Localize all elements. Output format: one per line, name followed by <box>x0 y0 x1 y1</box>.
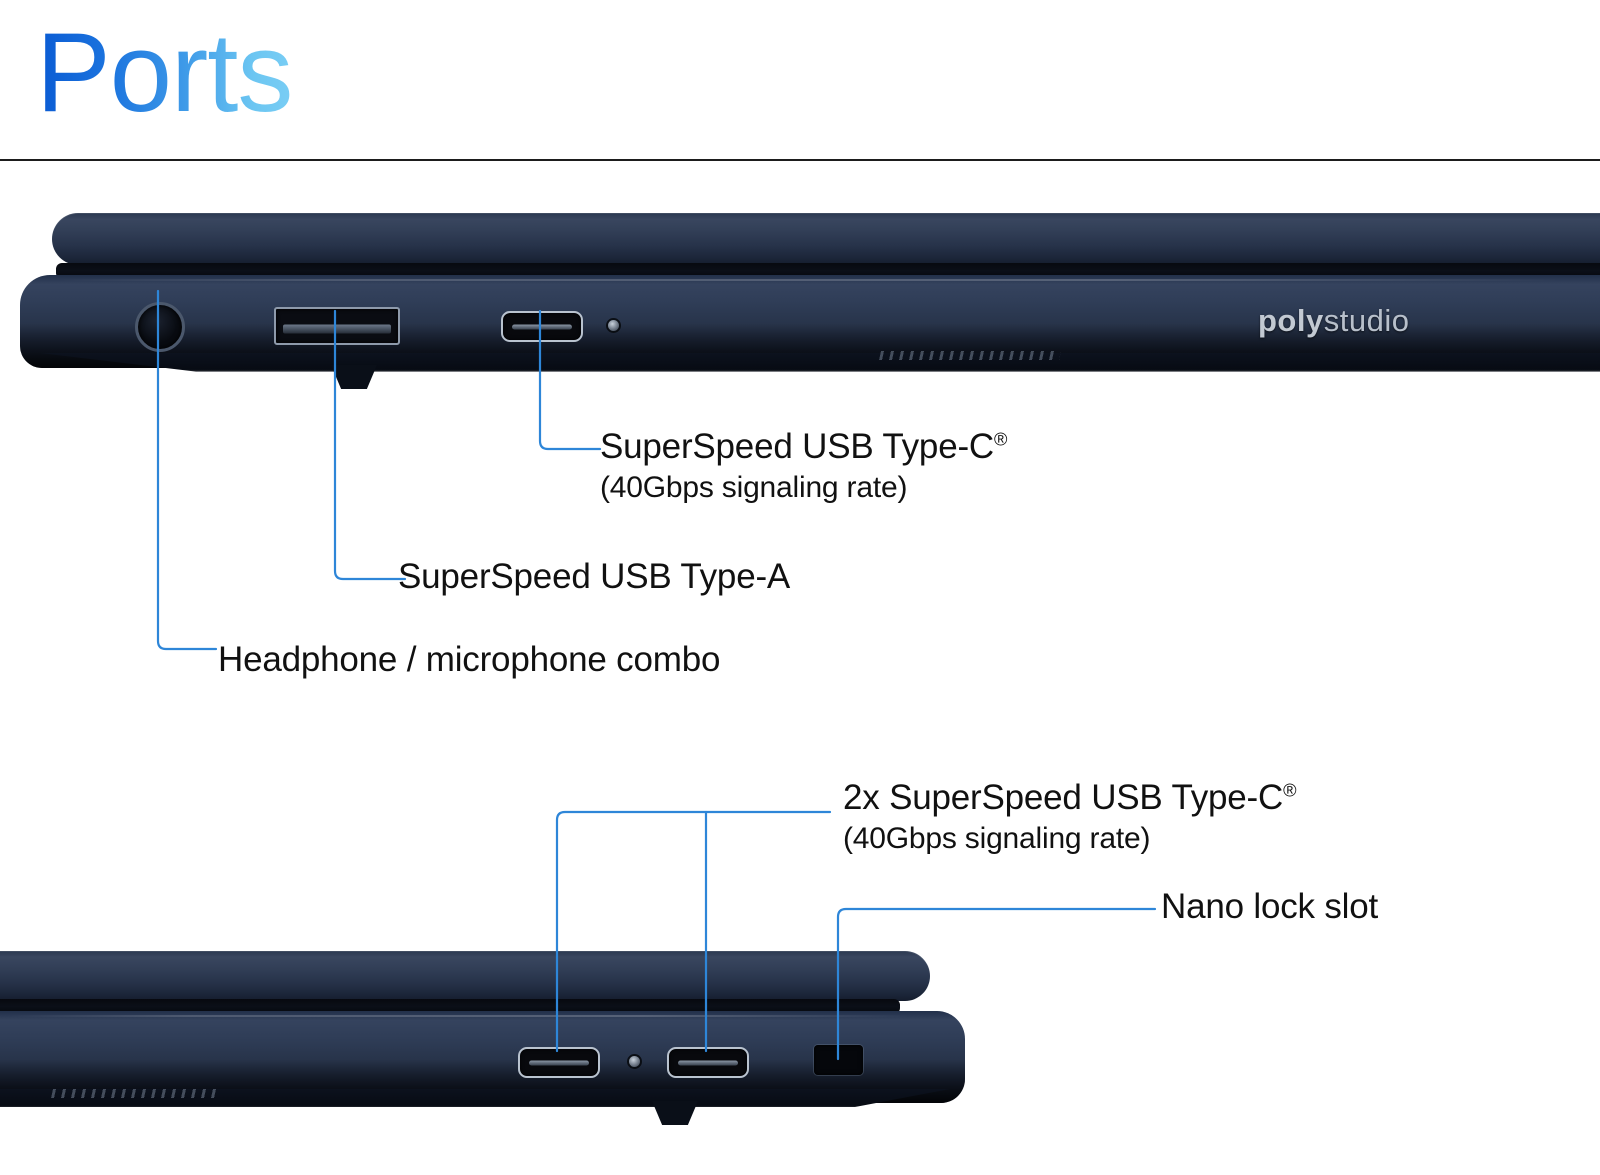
callout-title: SuperSpeed USB Type-C® <box>600 427 1007 466</box>
nano-lock-slot-port[interactable] <box>814 1045 863 1075</box>
ports-infographic-page: Ports polystudio <box>0 0 1600 1175</box>
callout-headphone-combo: Headphone / microphone combo <box>218 640 720 679</box>
led-indicator <box>629 1056 640 1067</box>
callout-usb-type-c-bottom: 2x SuperSpeed USB Type-C® (40Gbps signal… <box>843 778 1296 857</box>
callout-title-text: 2x SuperSpeed USB Type-C <box>843 778 1283 817</box>
laptop-lid <box>52 213 1600 265</box>
callout-usb-type-c-top: SuperSpeed USB Type-C® (40Gbps signaling… <box>600 427 1007 506</box>
callout-title-text: SuperSpeed USB Type-C <box>600 427 994 466</box>
laptop-left-side-view: polystudio <box>0 213 1600 438</box>
rubber-foot <box>331 365 377 389</box>
callout-subtitle: (40Gbps signaling rate) <box>600 470 1007 506</box>
vent-slots <box>879 351 1061 360</box>
vent-slots <box>51 1089 218 1098</box>
brand-logo: polystudio <box>1258 303 1409 339</box>
usb-type-c-port-2[interactable] <box>667 1047 749 1078</box>
callout-usb-type-a: SuperSpeed USB Type-A <box>398 557 790 596</box>
callout-title: Headphone / microphone combo <box>218 640 720 679</box>
laptop-lid <box>0 951 930 1001</box>
callout-subtitle: (40Gbps signaling rate) <box>843 821 1296 857</box>
usb-type-c-port-1[interactable] <box>518 1047 600 1078</box>
brand-poly: poly <box>1258 303 1324 338</box>
callout-nano-lock-slot: Nano lock slot <box>1161 887 1378 926</box>
rubber-foot <box>652 1101 698 1125</box>
illustration-stage: polystudio Supe <box>0 161 1600 1175</box>
callout-title-text: SuperSpeed USB Type-A <box>398 557 790 596</box>
registered-mark: ® <box>994 429 1007 449</box>
led-indicator <box>608 320 619 331</box>
page-title: Ports <box>36 14 292 132</box>
laptop-right-side-view <box>0 951 980 1151</box>
brand-studio: studio <box>1324 303 1410 338</box>
header: Ports <box>0 0 1600 161</box>
headphone-jack-port[interactable] <box>135 302 185 352</box>
usb-type-c-port[interactable] <box>501 311 583 342</box>
usb-type-a-port[interactable] <box>274 307 400 345</box>
callout-title: 2x SuperSpeed USB Type-C® <box>843 778 1296 817</box>
callout-title-text: Nano lock slot <box>1161 887 1378 926</box>
callout-title: SuperSpeed USB Type-A <box>398 557 790 596</box>
registered-mark: ® <box>1283 780 1296 800</box>
laptop-bottom-taper <box>40 353 1600 383</box>
callout-title-text: Headphone / microphone combo <box>218 640 720 679</box>
callout-title: Nano lock slot <box>1161 887 1378 926</box>
